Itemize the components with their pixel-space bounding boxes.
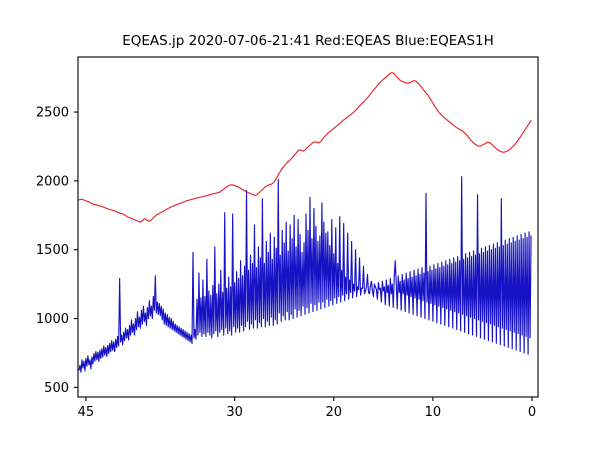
figure-background [0, 0, 600, 450]
chart-figure: EQEAS.jp 2020-07-06-21:41 Red:EQEAS Blue… [0, 0, 600, 450]
x-tick-label: 0 [528, 405, 536, 420]
y-tick-label: 1000 [36, 312, 69, 327]
x-tick-label: 20 [326, 405, 343, 420]
x-tick-label: 45 [78, 405, 95, 420]
y-tick-label: 2000 [36, 174, 69, 189]
y-tick-label: 2500 [36, 106, 69, 121]
x-tick-label: 30 [226, 405, 243, 420]
x-tick-label: 10 [425, 405, 442, 420]
y-tick-label: 500 [44, 381, 69, 396]
chart-title: EQEAS.jp 2020-07-06-21:41 Red:EQEAS Blue… [122, 33, 494, 49]
chart-canvas: EQEAS.jp 2020-07-06-21:41 Red:EQEAS Blue… [0, 0, 600, 450]
y-tick-label: 1500 [36, 243, 69, 258]
